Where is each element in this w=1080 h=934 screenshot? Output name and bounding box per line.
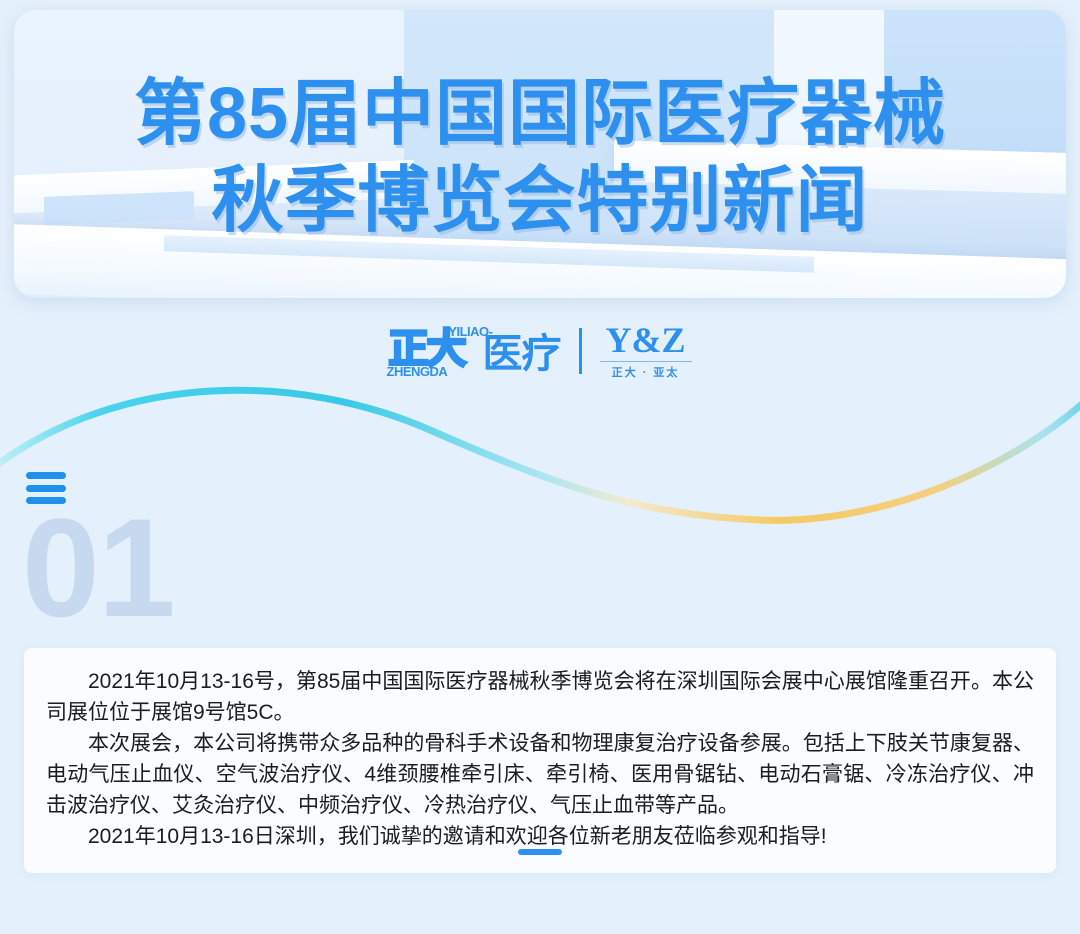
banner-title-line-1: 第85届中国国际医疗器械: [134, 72, 946, 157]
content-paragraph-1: 2021年10月13-16号，第85届中国国际医疗器械秋季博览会将在深圳国际会展…: [46, 666, 1034, 728]
card-bottom-indicator: [518, 849, 562, 855]
zhengda-mark: 正大 YILIAO- ZHENGDA: [389, 325, 489, 377]
logo-divider: [579, 328, 582, 374]
content-paragraph-2: 本次展会，本公司将携带众多品种的骨科手术设备和物理康复治疗设备参展。包括上下肢关…: [46, 728, 1034, 821]
logo-row: 正大 YILIAO- ZHENGDA 医疗 Y&Z 正大 · 亚太: [0, 322, 1080, 380]
yz-wordmark: Y&Z: [606, 322, 686, 360]
section-number: 01: [22, 498, 174, 638]
logo-zhengda: 正大 YILIAO- ZHENGDA 医疗: [389, 325, 561, 377]
page-root: 第85届中国国际医疗器械 秋季博览会特别新闻 正大 YILIAO- ZHENGD…: [0, 0, 1080, 934]
content-card: 2021年10月13-16号，第85届中国国际医疗器械秋季博览会将在深圳国际会展…: [24, 648, 1056, 873]
logo-yz: Y&Z 正大 · 亚太: [600, 322, 692, 380]
header-banner: 第85届中国国际医疗器械 秋季博览会特别新闻: [14, 10, 1066, 298]
banner-title-group: 第85届中国国际医疗器械 秋季博览会特别新闻: [14, 10, 1066, 298]
hamburger-bar-1: [26, 472, 66, 479]
banner-title-line-2: 秋季博览会特别新闻: [211, 159, 868, 244]
yz-rule: [600, 361, 692, 362]
content-paragraph-3: 2021年10月13-16日深圳，我们诚挚的邀请和欢迎各位新老朋友莅临参观和指导…: [46, 821, 1034, 852]
zhengda-chinese-solid: 医疗: [483, 334, 561, 374]
zhengda-pinyin-top: YILIAO-: [448, 324, 492, 339]
